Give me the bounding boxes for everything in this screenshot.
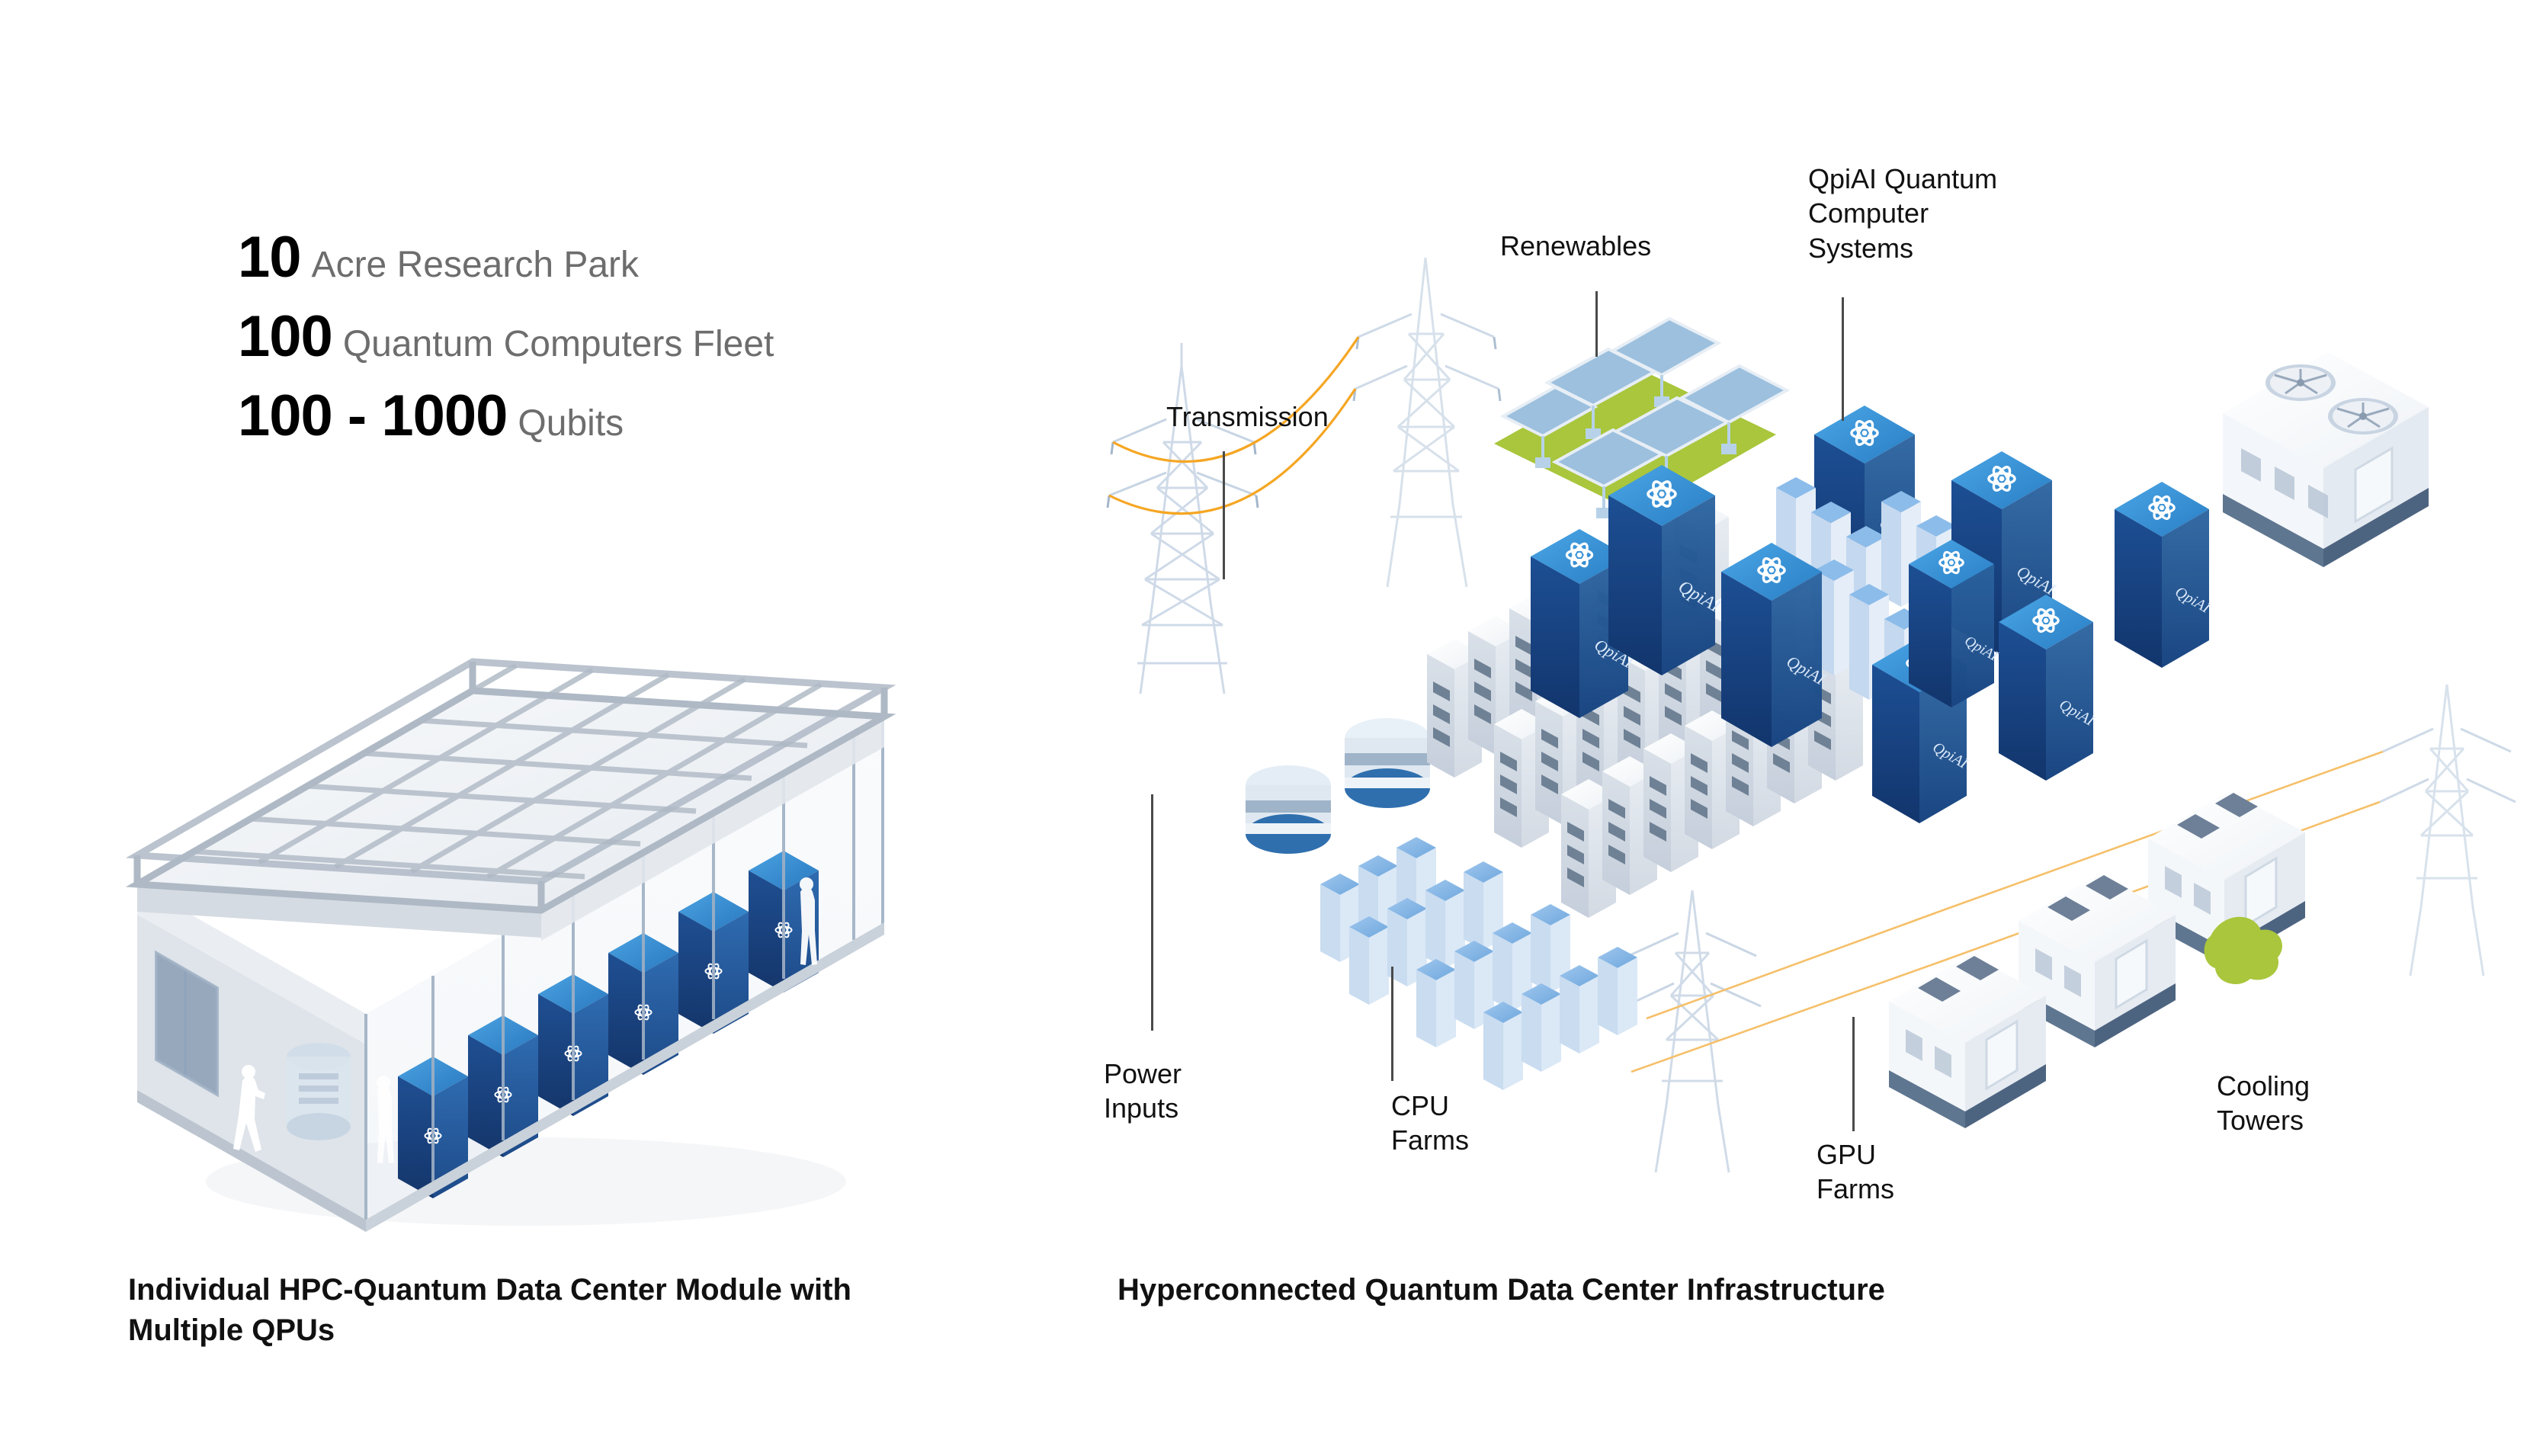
quantum-cabinet: QpiAI: [1909, 540, 2002, 707]
label-renewables: Renewables: [1500, 229, 1651, 263]
leader-line-cpu-farms: [1391, 967, 1393, 1081]
label-power-inputs: Power Inputs: [1104, 1057, 1182, 1126]
stat-row: 10 Acre Research Park: [238, 229, 1076, 287]
stat-label: Acre Research Park: [312, 247, 640, 284]
hpc-quantum-module-illustration: [114, 633, 953, 1250]
hyperconnected-infrastructure-illustration: QpiAI QpiAI QpiAI: [1067, 114, 2516, 1197]
fan-icon: [2328, 398, 2398, 435]
transmission-tower-icon: [1354, 258, 1500, 587]
transmission-tower-icon: [2380, 685, 2516, 976]
stat-number: 10: [238, 229, 301, 287]
cpu-rack: [1483, 1002, 1523, 1090]
caption-right-infrastructure: Hyperconnected Quantum Data Center Infra…: [1117, 1270, 2261, 1310]
quantum-cabinet: QpiAI: [2115, 482, 2214, 668]
cryostat: [287, 1043, 351, 1140]
leader-line-renewables: [1595, 291, 1598, 357]
leader-line-gpu-farms: [1852, 1017, 1855, 1131]
transmission-tower-icon: [1108, 343, 1258, 694]
fan-icon: [2265, 364, 2336, 401]
quantum-cabinet: QpiAI: [1608, 465, 1724, 675]
stat-label: Quantum Computers Fleet: [343, 326, 774, 363]
leader-line-qpiai: [1842, 297, 1844, 421]
transmission-tower-icon: [1625, 890, 1761, 1172]
label-gpu-farms: GPU Farms: [1817, 1137, 1894, 1207]
leader-line-transmission: [1223, 451, 1225, 579]
stats-block: 10 Acre Research Park 100 Quantum Comput…: [238, 229, 1076, 467]
cpu-rack: [1522, 983, 1561, 1072]
stat-row: 100 - 1000 Qubits: [238, 387, 1076, 445]
cpu-rack: [1416, 959, 1456, 1047]
stat-number: 100: [238, 308, 332, 366]
label-transmission: Transmission: [1166, 399, 1329, 434]
cooling-tower-unit: [2223, 352, 2429, 567]
storage-tank-icon: [1345, 718, 1430, 808]
caption-left-module: Individual HPC-Quantum Data Center Modul…: [128, 1270, 936, 1351]
storage-tank-icon: [1246, 765, 1331, 854]
quantum-cabinet: QpiAI: [1721, 543, 1829, 747]
leader-line-power-inputs: [1151, 794, 1153, 1031]
stat-label: Qubits: [518, 406, 624, 442]
quantum-cabinet: QpiAI: [1999, 595, 2098, 781]
stat-number: 100 - 1000: [238, 387, 507, 445]
label-cpu-farms: CPU Farms: [1391, 1089, 1469, 1158]
label-qpiai-systems: QpiAI Quantum Computer Systems: [1808, 162, 1997, 265]
cpu-rack: [1349, 916, 1389, 1005]
stat-row: 100 Quantum Computers Fleet: [238, 308, 1076, 366]
cpu-rack: [1560, 965, 1599, 1054]
label-cooling-towers: Cooling Towers: [2217, 1069, 2310, 1138]
cpu-rack: [1598, 947, 1637, 1035]
